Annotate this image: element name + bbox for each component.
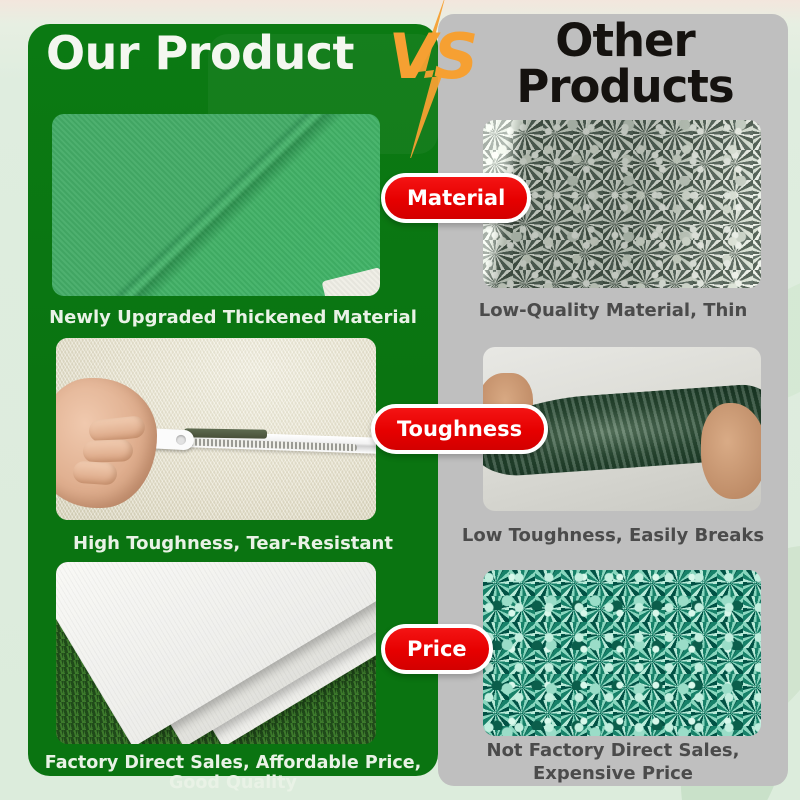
our-price-caption: Factory Direct Sales, Affordable Price, … [28, 753, 438, 793]
our-toughness-caption: High Toughness, Tear-Resistant [28, 533, 438, 554]
our-material-photo [52, 114, 380, 296]
other-products-title-line2: Products [470, 64, 780, 110]
our-toughness-photo [56, 338, 376, 520]
other-price-photo [483, 570, 761, 736]
nonwoven-on-grass-image [56, 562, 376, 744]
hand-right [701, 403, 761, 499]
fabric-fold-shade [52, 114, 380, 296]
other-products-title-line1: Other [470, 18, 780, 64]
finger [72, 461, 117, 486]
other-products-title: Other Products [470, 18, 780, 110]
badge-price: Price [381, 624, 493, 674]
finger [82, 439, 133, 463]
infographic-canvas: Our Product Other Products VS [0, 0, 800, 800]
versus-mark: VS [372, 14, 492, 134]
badge-toughness: Toughness [371, 404, 548, 454]
hand-holding-zipper [56, 378, 157, 508]
teal-mottled-fabric-image [483, 570, 761, 736]
other-price-caption: Not Factory Direct Sales, Expensive Pric… [438, 740, 788, 785]
zipper-opening [184, 428, 267, 438]
our-product-title: Our Product [46, 26, 406, 80]
badge-material: Material [381, 173, 531, 223]
zipper-fabric-image [56, 338, 376, 520]
our-material-caption: Newly Upgraded Thickened Material [28, 307, 438, 328]
other-toughness-caption: Low Toughness, Easily Breaks [438, 525, 788, 548]
other-material-caption: Low-Quality Material, Thin [438, 300, 788, 323]
our-price-photo [56, 562, 376, 744]
fabric-corner-highlight [322, 267, 380, 296]
versus-label: VS [372, 26, 492, 88]
green-folded-fabric-image [52, 114, 380, 296]
